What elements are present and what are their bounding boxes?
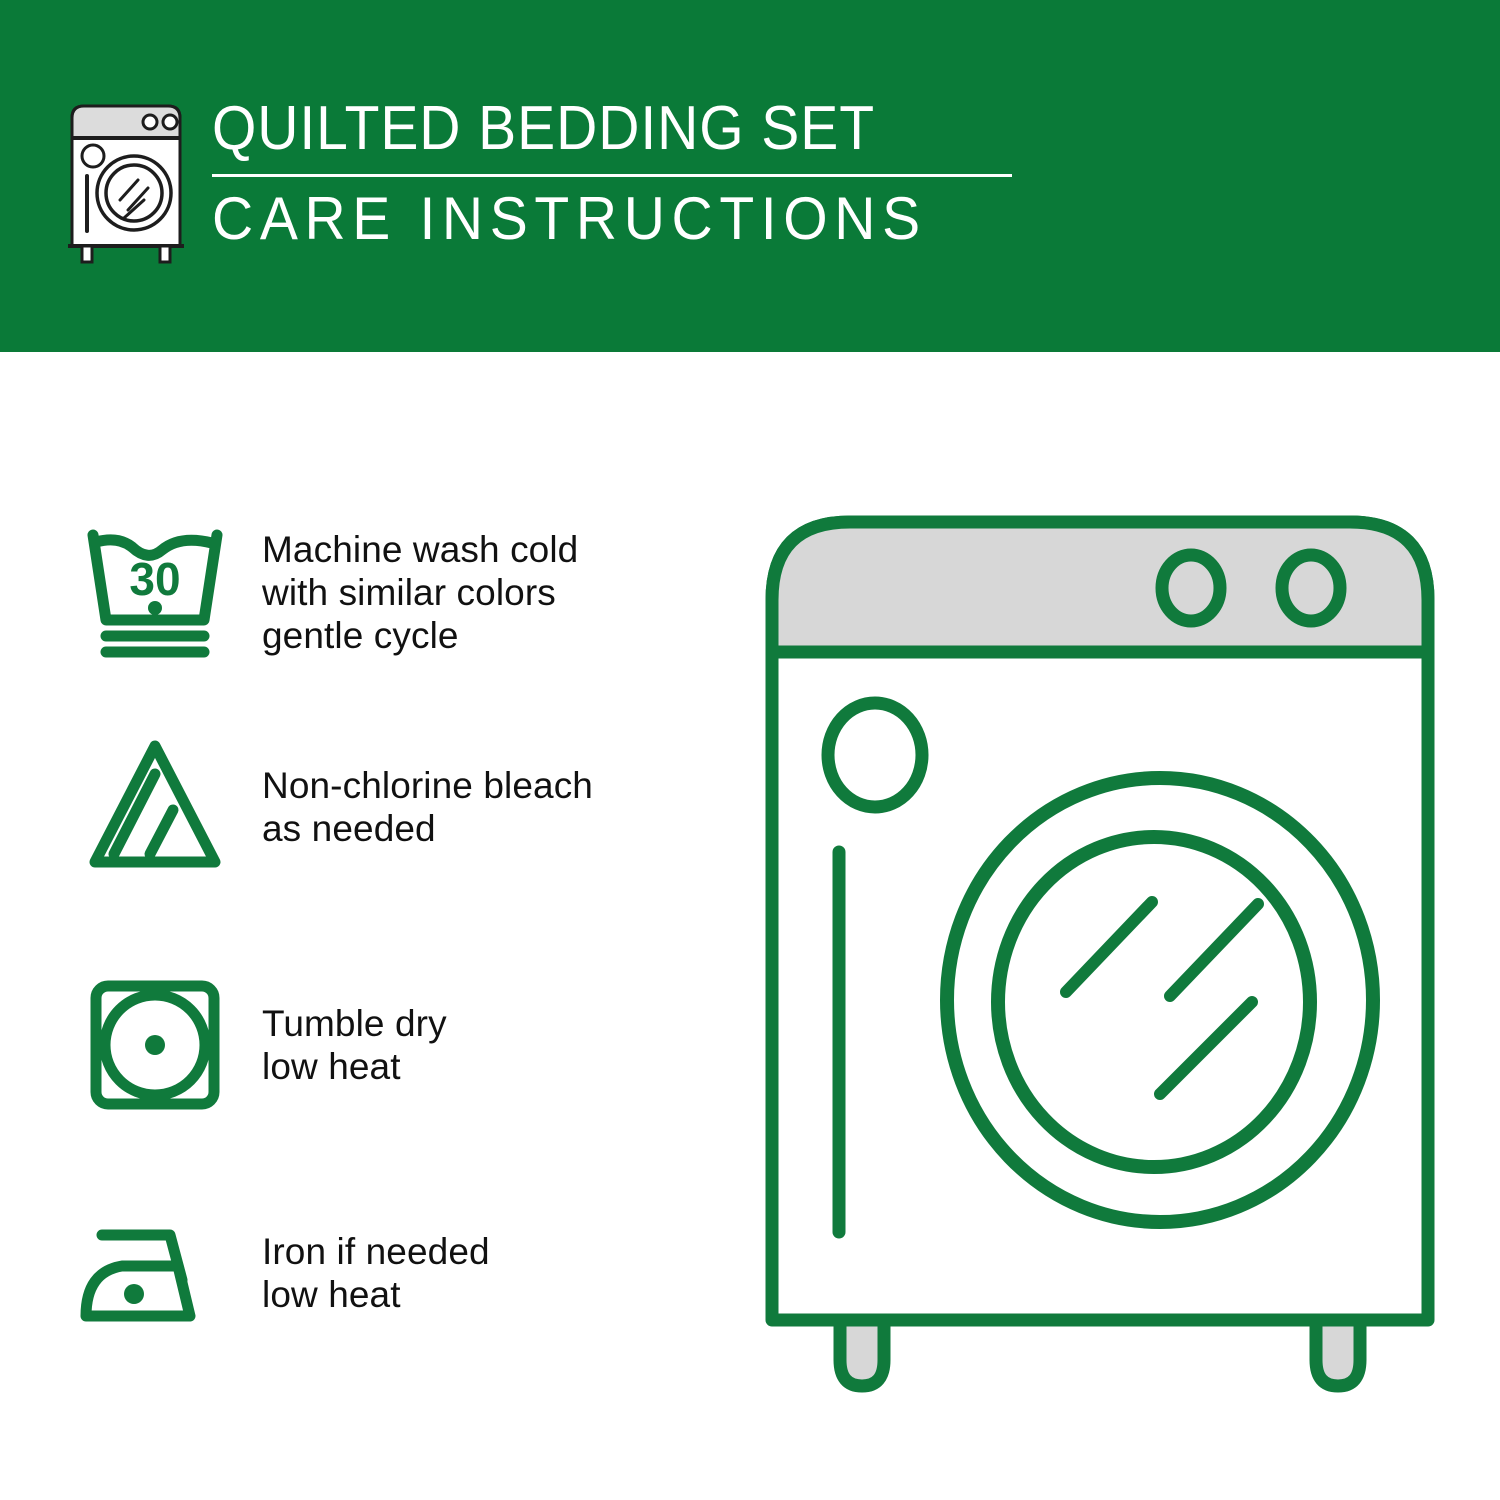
care-item-text: Non-chlorine bleach as needed (262, 722, 593, 850)
care-item-iron: Iron if needed low heat (70, 1190, 710, 1360)
header-content: QUILTED BEDDING SET CARE INSTRUCTIONS (62, 96, 1012, 268)
care-line: Machine wash cold (262, 528, 578, 571)
care-line: low heat (262, 1045, 447, 1088)
care-item-machine-wash: 30 Machine wash cold with similar colors… (70, 500, 710, 670)
leg-right (1316, 1320, 1360, 1386)
iron-low-heat-icon (70, 1190, 240, 1360)
header-titles: QUILTED BEDDING SET CARE INSTRUCTIONS (212, 96, 1012, 251)
care-line: with similar colors (262, 571, 578, 614)
care-item-text: Machine wash cold with similar colors ge… (262, 500, 578, 657)
non-chlorine-bleach-triangle-icon (70, 722, 240, 892)
leg-left (840, 1320, 884, 1386)
detergent-dispenser (828, 703, 922, 807)
page-title: QUILTED BEDDING SET (212, 96, 875, 162)
care-item-bleach: Non-chlorine bleach as needed (70, 722, 710, 892)
title-divider (212, 174, 1012, 177)
care-line: low heat (262, 1273, 490, 1316)
page-subtitle: CARE INSTRUCTIONS (212, 187, 927, 251)
knob-left (1162, 555, 1220, 621)
knob-right (1282, 555, 1340, 621)
washing-machine-icon (62, 96, 190, 268)
care-line: Iron if needed (262, 1230, 490, 1273)
care-item-text: Iron if needed low heat (262, 1190, 490, 1316)
header-banner: QUILTED BEDDING SET CARE INSTRUCTIONS (0, 0, 1500, 352)
care-line: Non-chlorine bleach (262, 764, 593, 807)
care-instructions-page: QUILTED BEDDING SET CARE INSTRUCTIONS (0, 0, 1500, 1500)
tumble-dry-low-icon (70, 960, 240, 1130)
wash-tub-30-gentle-icon: 30 (70, 500, 240, 670)
wash-temperature-value: 30 (129, 553, 180, 605)
care-item-text: Tumble dry low heat (262, 960, 447, 1088)
care-line: Tumble dry (262, 1002, 447, 1045)
care-line: as needed (262, 807, 593, 850)
care-line: gentle cycle (262, 614, 578, 657)
care-item-tumble-dry: Tumble dry low heat (70, 960, 710, 1130)
washing-machine-illustration (740, 480, 1460, 1430)
